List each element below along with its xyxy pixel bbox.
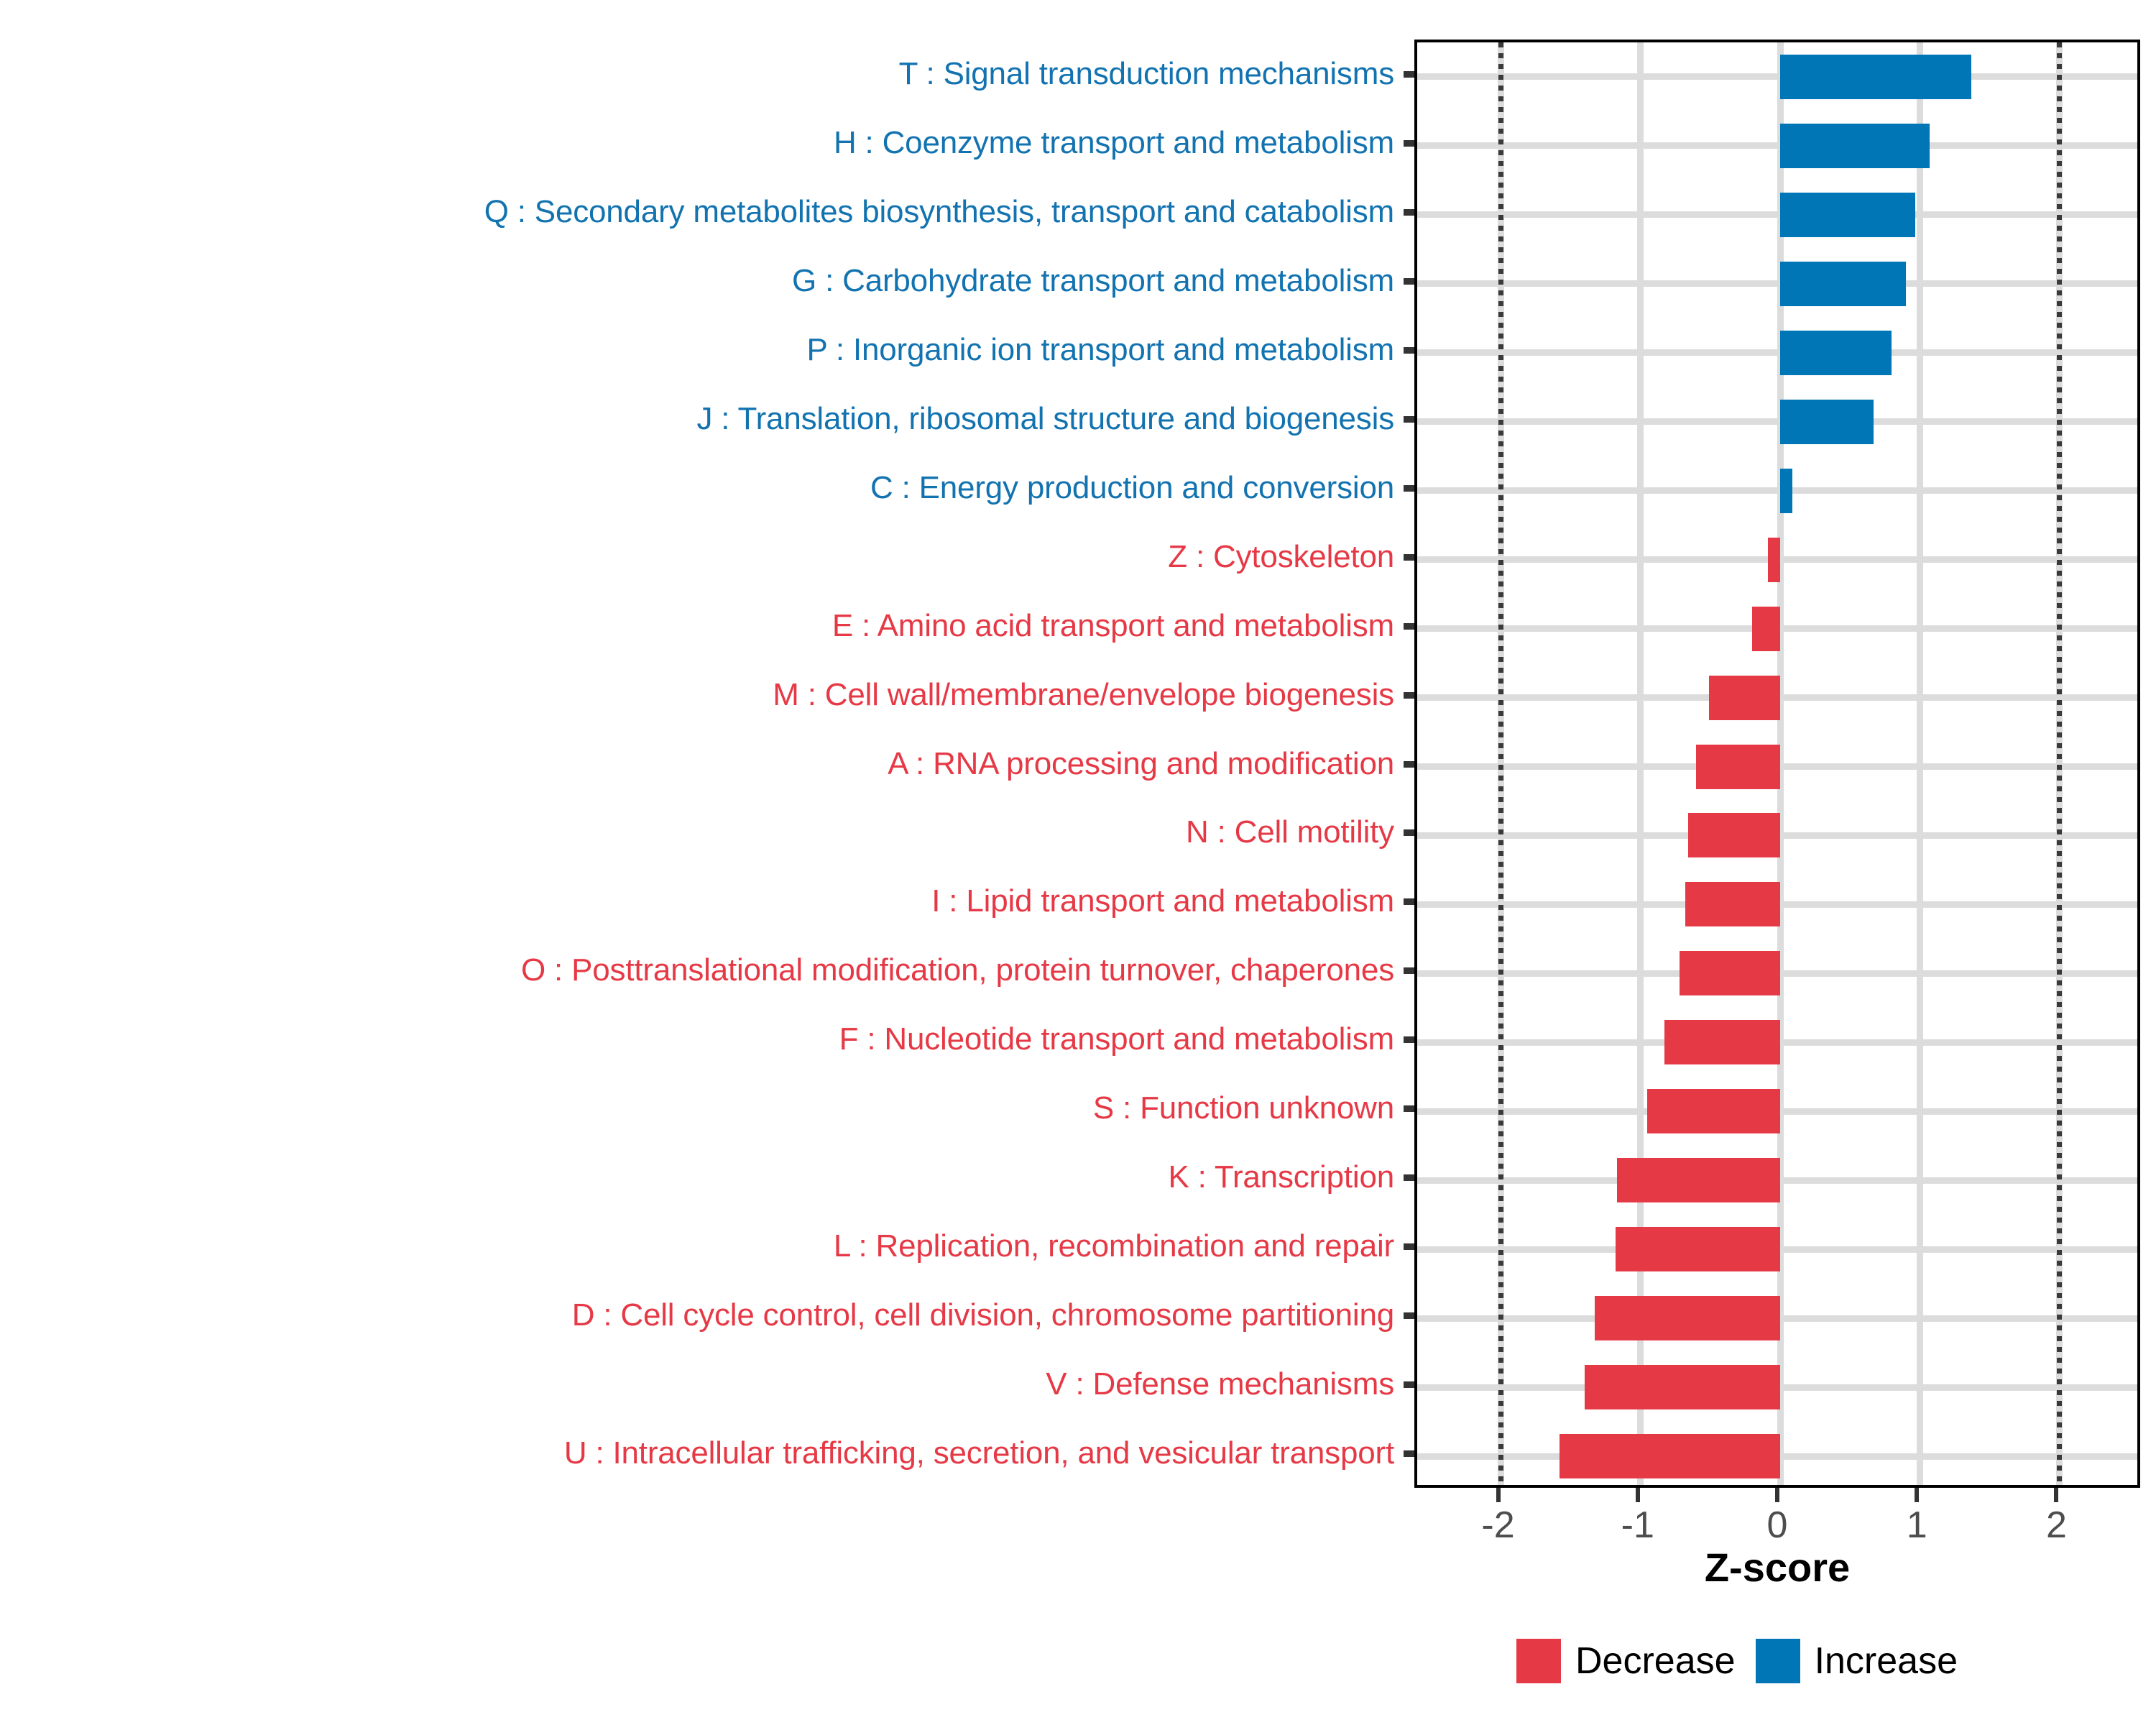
- y-axis-label-i: I : Lipid transport and metabolism: [0, 884, 1394, 919]
- y-axis-tick: [1404, 1312, 1415, 1319]
- y-axis-tick: [1404, 485, 1415, 492]
- y-axis-label-k: K : Transcription: [0, 1160, 1394, 1195]
- bar[interactable]: [1595, 1296, 1780, 1340]
- bar[interactable]: [1616, 1227, 1780, 1271]
- y-axis-tick: [1404, 623, 1415, 630]
- y-axis-label-o: O : Posttranslational modification, prot…: [0, 953, 1394, 988]
- y-axis-tick: [1404, 209, 1415, 216]
- x-axis-tick-label: -1: [1595, 1504, 1681, 1547]
- y-axis-tick: [1404, 347, 1415, 354]
- y-axis-tick: [1404, 1381, 1415, 1388]
- y-axis-tick: [1404, 554, 1415, 561]
- legend-label-decrease: Decrease: [1575, 1639, 1736, 1683]
- bar[interactable]: [1780, 55, 1971, 99]
- y-axis-tick: [1404, 140, 1415, 147]
- bar[interactable]: [1647, 1089, 1780, 1133]
- legend-entry-decrease[interactable]: Decrease: [1516, 1639, 1736, 1683]
- y-axis-label-j: J : Translation, ribosomal structure and…: [0, 402, 1394, 436]
- x-axis-tick: [1775, 1488, 1779, 1502]
- y-axis-label-e: E : Amino acid transport and metabolism: [0, 609, 1394, 643]
- bar[interactable]: [1780, 193, 1915, 237]
- x-axis-tick-label: 2: [2013, 1504, 2099, 1547]
- bar[interactable]: [1680, 951, 1780, 995]
- y-axis-label-c: C : Energy production and conversion: [0, 471, 1394, 505]
- x-axis-tick-label: 1: [1874, 1504, 1960, 1547]
- y-axis-tick: [1404, 1450, 1415, 1457]
- bar[interactable]: [1780, 124, 1930, 168]
- bar[interactable]: [1780, 331, 1892, 375]
- reference-line: [2057, 42, 2062, 1485]
- y-axis-label-z: Z : Cytoskeleton: [0, 540, 1394, 574]
- y-axis-label-m: M : Cell wall/membrane/envelope biogenes…: [0, 678, 1394, 712]
- legend-entry-increase[interactable]: Increase: [1756, 1639, 1958, 1683]
- y-axis-label-h: H : Coenzyme transport and metabolism: [0, 126, 1394, 160]
- y-axis-label-q: Q : Secondary metabolites biosynthesis, …: [0, 195, 1394, 229]
- y-axis-tick: [1404, 898, 1415, 905]
- legend-label-increase: Increase: [1815, 1639, 1958, 1683]
- y-axis-label-g: G : Carbohydrate transport and metabolis…: [0, 264, 1394, 298]
- reference-line: [1498, 42, 1503, 1485]
- y-axis-tick: [1404, 416, 1415, 423]
- y-axis-label-p: P : Inorganic ion transport and metaboli…: [0, 333, 1394, 367]
- legend-swatch-decrease: [1516, 1639, 1561, 1683]
- y-axis-label-d: D : Cell cycle control, cell division, c…: [0, 1298, 1394, 1333]
- bar[interactable]: [1688, 813, 1780, 857]
- vertical-gridline: [1917, 42, 1923, 1485]
- y-axis-tick: [1404, 71, 1415, 78]
- plot-panel: [1414, 40, 2140, 1488]
- y-axis-tick: [1404, 1243, 1415, 1250]
- bar[interactable]: [1780, 262, 1906, 306]
- y-axis-tick: [1404, 967, 1415, 974]
- x-axis-tick: [1496, 1488, 1501, 1502]
- y-axis-tick: [1404, 1036, 1415, 1043]
- x-axis-tick-label: 0: [1734, 1504, 1820, 1547]
- bar[interactable]: [1709, 676, 1780, 720]
- y-axis-label-t: T : Signal transduction mechanisms: [0, 57, 1394, 91]
- y-axis-tick: [1404, 278, 1415, 285]
- y-axis-label-f: F : Nucleotide transport and metabolism: [0, 1022, 1394, 1057]
- y-axis-label-u: U : Intracellular trafficking, secretion…: [0, 1436, 1394, 1471]
- bar[interactable]: [1780, 469, 1792, 513]
- bar[interactable]: [1768, 538, 1780, 582]
- y-axis-tick: [1404, 1174, 1415, 1181]
- bar[interactable]: [1685, 882, 1780, 926]
- y-axis-tick: [1404, 1105, 1415, 1112]
- bar[interactable]: [1696, 745, 1780, 789]
- x-axis-title: Z-score: [1414, 1544, 2140, 1591]
- x-axis-tick: [1636, 1488, 1640, 1502]
- y-axis-category-labels: T : Signal transduction mechanismsH : Co…: [0, 40, 1414, 1488]
- y-axis-label-v: V : Defense mechanisms: [0, 1367, 1394, 1402]
- bar[interactable]: [1664, 1020, 1780, 1064]
- x-axis-tick: [1915, 1488, 1919, 1502]
- bar[interactable]: [1617, 1158, 1780, 1202]
- y-axis-label-n: N : Cell motility: [0, 815, 1394, 850]
- y-axis-tick: [1404, 829, 1415, 836]
- y-axis-tick: [1404, 761, 1415, 768]
- legend-swatch-increase: [1756, 1639, 1800, 1683]
- legend: Decrease Increase: [1516, 1639, 1958, 1683]
- y-axis-tick: [1404, 692, 1415, 699]
- bar[interactable]: [1560, 1434, 1780, 1478]
- y-axis-label-l: L : Replication, recombination and repai…: [0, 1229, 1394, 1264]
- y-axis-label-s: S : Function unknown: [0, 1091, 1394, 1126]
- x-axis-tick-label: -2: [1455, 1504, 1542, 1547]
- bar[interactable]: [1585, 1365, 1780, 1409]
- cog-zscore-bar-chart: T : Signal transduction mechanismsH : Co…: [0, 0, 2156, 1725]
- bar[interactable]: [1780, 400, 1874, 444]
- bar[interactable]: [1752, 607, 1780, 651]
- y-axis-label-a: A : RNA processing and modification: [0, 747, 1394, 781]
- x-axis-tick: [2054, 1488, 2058, 1502]
